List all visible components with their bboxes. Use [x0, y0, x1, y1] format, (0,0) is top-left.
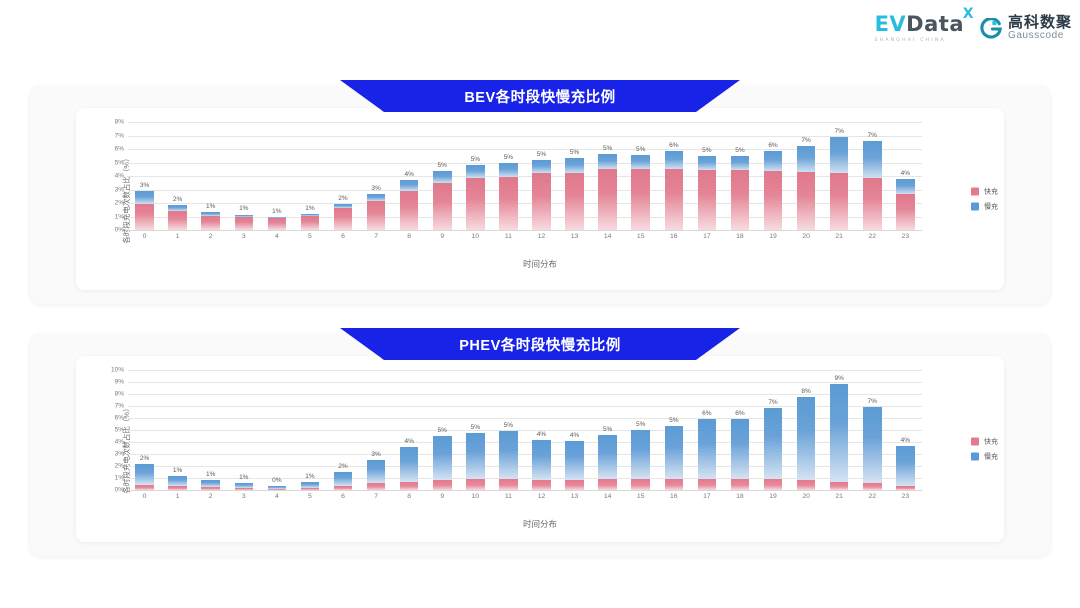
bar-group[interactable]: 5% [492, 370, 525, 490]
bar-group[interactable]: 5% [657, 370, 690, 490]
bar-segment-fast[interactable] [499, 479, 518, 490]
bar-data-label: 1% [206, 203, 215, 210]
stacked-bar[interactable]: 3% [367, 460, 386, 490]
bar-segment-fast[interactable] [367, 483, 386, 490]
bar-group[interactable]: 5% [624, 122, 657, 230]
stacked-bar[interactable]: 5% [731, 156, 750, 230]
x-tick-label: 19 [756, 490, 789, 500]
x-tick-label: 23 [889, 490, 922, 500]
y-tick-label: 4% [115, 173, 124, 180]
chart-card-phev: 各时段充电次数占比（%） 0%1%2%3%4%5%6%7%8%9%10% 2%1… [30, 334, 1050, 556]
stacked-bar[interactable]: 5% [598, 435, 617, 490]
bar-segment-slow[interactable] [863, 141, 882, 178]
bar-segment-fast[interactable] [698, 479, 717, 490]
bar-group[interactable]: 3% [128, 122, 161, 230]
bar-segment-slow[interactable] [631, 155, 650, 169]
bar-segment-slow[interactable] [731, 419, 750, 480]
x-tick-label: 18 [723, 230, 756, 240]
bar-segment-fast[interactable] [631, 169, 650, 230]
bar-group[interactable]: 6% [657, 122, 690, 230]
x-tick-label: 2 [194, 230, 227, 240]
bar-group[interactable]: 8% [790, 370, 823, 490]
stacked-bar[interactable]: 5% [433, 436, 452, 490]
y-tick-label: 5% [115, 427, 124, 434]
bar-segment-fast[interactable] [400, 482, 419, 490]
bar-data-label: 2% [173, 196, 182, 203]
bar-segment-slow[interactable] [433, 436, 452, 480]
bar-data-label: 4% [404, 438, 413, 445]
bar-segment-fast[interactable] [201, 216, 220, 230]
bar-data-label: 7% [868, 132, 877, 139]
bar-group[interactable]: 7% [756, 370, 789, 490]
stacked-bar[interactable]: 5% [698, 156, 717, 230]
bar-segment-slow[interactable] [896, 179, 915, 194]
bar-segment-slow[interactable] [135, 191, 154, 204]
bar-segment-fast[interactable] [367, 201, 386, 230]
legend-swatch [971, 188, 979, 196]
chart-phev: 各时段充电次数占比（%） 0%1%2%3%4%5%6%7%8%9%10% 2%1… [76, 356, 1004, 542]
bar-group[interactable]: 2% [128, 370, 161, 490]
stacked-bar[interactable]: 4% [896, 446, 915, 490]
bar-segment-slow[interactable] [698, 156, 717, 170]
bar-data-label: 4% [537, 431, 546, 438]
bar-group[interactable]: 1% [194, 370, 227, 490]
bar-segment-slow[interactable] [433, 171, 452, 184]
bar-segment-slow[interactable] [532, 160, 551, 173]
y-tick-label: 0% [115, 227, 124, 234]
bar-segment-fast[interactable] [466, 479, 485, 490]
legend-label: 快充 [984, 187, 998, 197]
bar-data-label: 4% [404, 171, 413, 178]
stacked-bar[interactable]: 4% [532, 440, 551, 490]
bar-data-label: 1% [305, 205, 314, 212]
stacked-bar[interactable]: 5% [499, 163, 518, 230]
bar-segment-fast[interactable] [135, 204, 154, 230]
bar-segment-fast[interactable] [466, 178, 485, 230]
stacked-bar[interactable]: 5% [598, 154, 617, 230]
bar-group[interactable]: 7% [790, 122, 823, 230]
x-tick-label: 7 [360, 490, 393, 500]
stacked-bar[interactable]: 2% [135, 464, 154, 490]
stacked-bar[interactable]: 4% [400, 180, 419, 230]
x-tick-label: 23 [889, 230, 922, 240]
stacked-bar[interactable]: 1% [201, 212, 220, 230]
bar-data-label: 2% [338, 463, 347, 470]
bar-segment-fast[interactable] [598, 169, 617, 230]
stacked-bar[interactable]: 5% [532, 160, 551, 230]
stacked-bar[interactable]: 1% [235, 214, 254, 230]
bar-data-label: 5% [438, 162, 447, 169]
legend-item[interactable]: 快充 [971, 187, 998, 197]
bar-data-label: 5% [471, 156, 480, 163]
bar-data-label: 4% [901, 437, 910, 444]
bar-group[interactable]: 3% [360, 122, 393, 230]
bar-segment-slow[interactable] [830, 384, 849, 482]
bar-segment-slow[interactable] [499, 163, 518, 176]
y-tick-label: 3% [115, 186, 124, 193]
bar-series-bev: 3%2%1%1%1%1%2%3%4%5%5%5%5%5%5%5%6%5%5%6%… [128, 122, 922, 230]
y-tick-label: 1% [115, 213, 124, 220]
stacked-bar[interactable]: 6% [764, 151, 783, 230]
stacked-bar[interactable]: 1% [301, 482, 320, 490]
bar-segment-slow[interactable] [797, 146, 816, 172]
bar-group[interactable]: 5% [459, 122, 492, 230]
bar-segment-fast[interactable] [301, 216, 320, 230]
bar-segment-fast[interactable] [235, 217, 254, 230]
bar-data-label: 1% [305, 473, 314, 480]
evdata-prefix: EV [875, 12, 907, 36]
bar-data-label: 5% [504, 422, 513, 429]
bar-segment-fast[interactable] [565, 173, 584, 230]
x-tick-label: 14 [591, 230, 624, 240]
y-tick-label: 0% [115, 487, 124, 494]
bar-segment-fast[interactable] [896, 194, 915, 230]
bar-segment-fast[interactable] [830, 173, 849, 230]
bar-segment-fast[interactable] [797, 172, 816, 230]
bar-segment-slow[interactable] [532, 440, 551, 480]
y-tick-label: 1% [115, 475, 124, 482]
bar-data-label: 4% [570, 432, 579, 439]
bar-group[interactable]: 5% [426, 370, 459, 490]
stacked-bar[interactable]: 2% [168, 205, 187, 230]
bar-segment-slow[interactable] [797, 397, 816, 480]
x-tick-label: 6 [326, 490, 359, 500]
gausscode-text: 高科数聚 Gausscode [1008, 15, 1072, 41]
gausscode-cn: 高科数聚 [1008, 15, 1072, 31]
x-tick-label: 9 [426, 230, 459, 240]
chart-bev: 各时段充电次数占比（%） 0%1%2%3%4%5%6%7%8% 3%2%1%1%… [76, 108, 1004, 290]
stacked-bar[interactable]: 4% [896, 179, 915, 230]
bar-group[interactable]: 1% [293, 122, 326, 230]
bar-data-label: 5% [471, 424, 480, 431]
bar-segment-fast[interactable] [400, 191, 419, 230]
bar-segment-slow[interactable] [665, 426, 684, 479]
bar-segment-slow[interactable] [400, 447, 419, 481]
bar-segment-fast[interactable] [698, 170, 717, 230]
bar-segment-fast[interactable] [268, 218, 287, 230]
bar-segment-fast[interactable] [532, 480, 551, 490]
x-tick-label: 3 [227, 490, 260, 500]
bar-segment-fast[interactable] [731, 479, 750, 490]
legend-item[interactable]: 慢充 [971, 452, 998, 462]
x-tick-label: 1 [161, 230, 194, 240]
stacked-bar[interactable]: 1% [268, 217, 287, 231]
bar-group[interactable]: 3% [360, 370, 393, 490]
bar-group[interactable]: 7% [823, 122, 856, 230]
bar-data-label: 5% [438, 427, 447, 434]
stacked-bar[interactable]: 5% [466, 165, 485, 230]
stacked-bar[interactable]: 2% [334, 472, 353, 490]
bar-group[interactable]: 7% [856, 370, 889, 490]
x-tick-label: 17 [690, 230, 723, 240]
x-tick-label: 4 [260, 490, 293, 500]
bar-segment-fast[interactable] [168, 211, 187, 230]
bar-data-label: 7% [834, 128, 843, 135]
x-tick-label: 16 [657, 230, 690, 240]
x-tick-label: 11 [492, 230, 525, 240]
stacked-bar[interactable]: 3% [135, 191, 154, 230]
legend-phev: 快充慢充 [971, 432, 998, 467]
stacked-bar[interactable]: 6% [665, 151, 684, 230]
bar-series-phev: 2%1%1%1%0%1%2%3%4%5%5%5%4%4%5%5%5%6%6%7%… [128, 370, 922, 490]
bar-group[interactable]: 5% [624, 370, 657, 490]
stacked-bar[interactable]: 9% [830, 384, 849, 490]
bar-data-label: 7% [868, 398, 877, 405]
bar-data-label: 2% [140, 455, 149, 462]
bar-group[interactable]: 7% [856, 122, 889, 230]
legend-label: 慢充 [984, 202, 998, 212]
bar-data-label: 5% [603, 426, 612, 433]
bar-group[interactable]: 5% [558, 122, 591, 230]
bar-group[interactable]: 1% [293, 370, 326, 490]
bar-group[interactable]: 5% [492, 122, 525, 230]
bar-segment-slow[interactable] [135, 464, 154, 486]
bar-group[interactable]: 9% [823, 370, 856, 490]
chart-card-bev: 各时段充电次数占比（%） 0%1%2%3%4%5%6%7%8% 3%2%1%1%… [30, 86, 1050, 304]
stacked-bar[interactable]: 5% [565, 158, 584, 230]
x-tick-label: 20 [790, 230, 823, 240]
bar-data-label: 7% [768, 399, 777, 406]
bar-data-label: 5% [636, 146, 645, 153]
bar-group[interactable]: 4% [889, 122, 922, 230]
bar-group[interactable]: 4% [525, 370, 558, 490]
evdata-subtitle: SHANGHAI CHINA [875, 38, 946, 43]
x-tick-label: 20 [790, 490, 823, 500]
y-tick-label: 7% [115, 403, 124, 410]
bar-data-label: 1% [239, 205, 248, 212]
bar-data-label: 5% [669, 417, 678, 424]
stacked-bar[interactable]: 1% [201, 480, 220, 490]
bar-segment-slow[interactable] [499, 431, 518, 478]
x-tick-label: 17 [690, 490, 723, 500]
stacked-bar[interactable]: 5% [665, 426, 684, 490]
y-tick-label: 3% [115, 451, 124, 458]
bar-data-label: 5% [537, 151, 546, 158]
bar-segment-fast[interactable] [731, 170, 750, 230]
bar-segment-fast[interactable] [631, 479, 650, 490]
stacked-bar[interactable]: 5% [631, 430, 650, 490]
legend-swatch [971, 438, 979, 446]
stacked-bar[interactable]: 5% [499, 431, 518, 490]
y-tick-label: 8% [115, 119, 124, 126]
bar-segment-slow[interactable] [665, 151, 684, 169]
plot-area-phev: 0%1%2%3%4%5%6%7%8%9%10% 2%1%1%1%0%1%2%3%… [128, 370, 922, 490]
bar-group[interactable]: 5% [525, 122, 558, 230]
bar-data-label: 3% [140, 182, 149, 189]
bar-segment-slow[interactable] [565, 441, 584, 480]
bar-segment-slow[interactable] [367, 460, 386, 483]
bar-group[interactable]: 5% [591, 370, 624, 490]
bar-group[interactable]: 6% [690, 370, 723, 490]
stacked-bar[interactable]: 7% [863, 407, 882, 490]
legend-swatch [971, 203, 979, 211]
bar-group[interactable]: 2% [326, 122, 359, 230]
bar-segment-fast[interactable] [499, 177, 518, 230]
bar-data-label: 5% [603, 145, 612, 152]
stacked-bar[interactable]: 5% [466, 433, 485, 490]
bar-segment-fast[interactable] [334, 208, 353, 230]
stacked-bar[interactable]: 6% [731, 419, 750, 490]
logo-bar: EVDataX SHANGHAI CHINA 高科数聚 Gausscode [875, 14, 1072, 43]
bar-segment-slow[interactable] [896, 446, 915, 486]
bar-group[interactable]: 2% [326, 370, 359, 490]
y-tick-label: 4% [115, 439, 124, 446]
y-tick-label: 9% [115, 379, 124, 386]
x-tick-label: 8 [393, 230, 426, 240]
x-tick-label: 21 [823, 490, 856, 500]
bar-segment-slow[interactable] [598, 435, 617, 479]
x-tick-label: 14 [591, 490, 624, 500]
bar-group[interactable]: 5% [426, 122, 459, 230]
slide-page: EVDataX SHANGHAI CHINA 高科数聚 Gausscode 各时… [0, 0, 1080, 608]
bar-segment-slow[interactable] [731, 156, 750, 170]
bar-segment-slow[interactable] [168, 476, 187, 487]
x-tick-label: 18 [723, 490, 756, 500]
stacked-bar[interactable]: 4% [565, 441, 584, 490]
bar-group[interactable]: 2% [161, 122, 194, 230]
x-tick-label: 10 [459, 230, 492, 240]
bar-group[interactable]: 1% [227, 370, 260, 490]
bar-segment-slow[interactable] [400, 180, 419, 191]
bar-segment-fast[interactable] [863, 178, 882, 230]
bar-data-label: 5% [570, 149, 579, 156]
stacked-bar[interactable]: 1% [235, 483, 254, 490]
bar-group[interactable]: 4% [558, 370, 591, 490]
x-tick-label: 21 [823, 230, 856, 240]
bar-data-label: 4% [901, 170, 910, 177]
bar-data-label: 5% [636, 421, 645, 428]
x-axis-label-bev: 时间分布 [76, 258, 1004, 270]
bar-segment-fast[interactable] [764, 479, 783, 490]
x-axis-label-phev: 时间分布 [76, 518, 1004, 530]
bar-segment-fast[interactable] [863, 483, 882, 490]
bar-group[interactable]: 1% [194, 122, 227, 230]
x-tick-label: 15 [624, 490, 657, 500]
x-tick-label: 7 [360, 230, 393, 240]
bar-data-label: 1% [206, 471, 215, 478]
evdata-x-icon: X [963, 7, 974, 21]
bar-group[interactable]: 0% [260, 370, 293, 490]
x-tick-label: 13 [558, 230, 591, 240]
bar-segment-fast[interactable] [565, 480, 584, 490]
gausscode-en: Gausscode [1008, 31, 1072, 42]
evdata-wordmark: EVDataX [875, 14, 964, 35]
legend-label: 快充 [984, 437, 998, 447]
chart-inner-phev: 各时段充电次数占比（%） 0%1%2%3%4%5%6%7%8%9%10% 2%1… [76, 356, 1004, 542]
bar-data-label: 9% [834, 375, 843, 382]
bar-segment-fast[interactable] [433, 183, 452, 230]
bar-segment-slow[interactable] [830, 137, 849, 173]
x-tick-label: 5 [293, 230, 326, 240]
x-tick-label: 6 [326, 230, 359, 240]
banner-title-phev: PHEV各时段快慢充比例 [340, 328, 740, 360]
stacked-bar[interactable]: 7% [863, 141, 882, 230]
bar-segment-slow[interactable] [466, 433, 485, 479]
bar-segment-fast[interactable] [433, 480, 452, 490]
bar-segment-slow[interactable] [334, 472, 353, 486]
x-tick-label: 0 [128, 230, 161, 240]
bar-group[interactable]: 5% [591, 122, 624, 230]
bar-segment-slow[interactable] [631, 430, 650, 479]
x-tick-label: 13 [558, 490, 591, 500]
chart-inner-bev: 各时段充电次数占比（%） 0%1%2%3%4%5%6%7%8% 3%2%1%1%… [76, 108, 1004, 290]
bar-segment-slow[interactable] [466, 165, 485, 178]
legend-item[interactable]: 快充 [971, 437, 998, 447]
y-tick-label: 10% [111, 367, 124, 374]
bar-group[interactable]: 1% [227, 122, 260, 230]
bar-segment-fast[interactable] [665, 479, 684, 490]
bar-group[interactable]: 5% [723, 122, 756, 230]
stacked-bar[interactable]: 3% [367, 194, 386, 230]
y-axis-ticks-bev: 0%1%2%3%4%5%6%7%8% [102, 122, 126, 230]
x-tick-label: 3 [227, 230, 260, 240]
bar-group[interactable]: 5% [690, 122, 723, 230]
bar-group[interactable]: 4% [889, 370, 922, 490]
bar-group[interactable]: 1% [260, 122, 293, 230]
bar-data-label: 7% [801, 137, 810, 144]
stacked-bar[interactable]: 7% [830, 137, 849, 230]
bar-data-label: 6% [702, 410, 711, 417]
bar-segment-slow[interactable] [565, 158, 584, 172]
x-tick-label: 12 [525, 230, 558, 240]
stacked-bar[interactable]: 8% [797, 397, 816, 490]
bar-segment-slow[interactable] [367, 194, 386, 201]
y-tick-label: 2% [115, 463, 124, 470]
bar-data-label: 6% [768, 142, 777, 149]
y-tick-label: 8% [115, 391, 124, 398]
bar-segment-slow[interactable] [764, 408, 783, 479]
bar-segment-fast[interactable] [797, 480, 816, 490]
y-tick-label: 5% [115, 159, 124, 166]
x-axis-ticks-bev: 01234567891011121314151617181920212223 [128, 230, 922, 240]
bar-group[interactable]: 4% [393, 370, 426, 490]
evdata-logo: EVDataX SHANGHAI CHINA [875, 14, 964, 43]
bar-data-label: 5% [504, 154, 513, 161]
x-tick-label: 4 [260, 230, 293, 240]
bar-data-label: 8% [801, 388, 810, 395]
stacked-bar[interactable]: 1% [301, 214, 320, 230]
bar-segment-fast[interactable] [764, 171, 783, 230]
bar-data-label: 5% [702, 147, 711, 154]
stacked-bar[interactable]: 2% [334, 204, 353, 230]
bar-segment-slow[interactable] [863, 407, 882, 483]
bar-group[interactable]: 1% [161, 370, 194, 490]
bar-segment-fast[interactable] [665, 169, 684, 230]
stacked-bar[interactable]: 7% [764, 408, 783, 490]
bar-segment-fast[interactable] [830, 482, 849, 490]
bar-group[interactable]: 5% [459, 370, 492, 490]
stacked-bar[interactable]: 5% [433, 171, 452, 230]
bar-segment-slow[interactable] [201, 480, 220, 487]
legend-item[interactable]: 慢充 [971, 202, 998, 212]
stacked-bar[interactable]: 7% [797, 146, 816, 230]
bar-segment-slow[interactable] [698, 419, 717, 480]
x-tick-label: 2 [194, 490, 227, 500]
bar-group[interactable]: 6% [756, 122, 789, 230]
bar-segment-slow[interactable] [764, 151, 783, 171]
bar-segment-slow[interactable] [598, 154, 617, 168]
stacked-bar[interactable]: 5% [631, 155, 650, 230]
stacked-bar[interactable]: 6% [698, 419, 717, 490]
bar-segment-fast[interactable] [598, 479, 617, 490]
x-tick-label: 8 [393, 490, 426, 500]
bar-group[interactable]: 6% [723, 370, 756, 490]
bar-data-label: 1% [239, 474, 248, 481]
stacked-bar[interactable]: 1% [168, 476, 187, 490]
stacked-bar[interactable]: 4% [400, 447, 419, 490]
bar-segment-fast[interactable] [532, 173, 551, 230]
bar-group[interactable]: 4% [393, 122, 426, 230]
